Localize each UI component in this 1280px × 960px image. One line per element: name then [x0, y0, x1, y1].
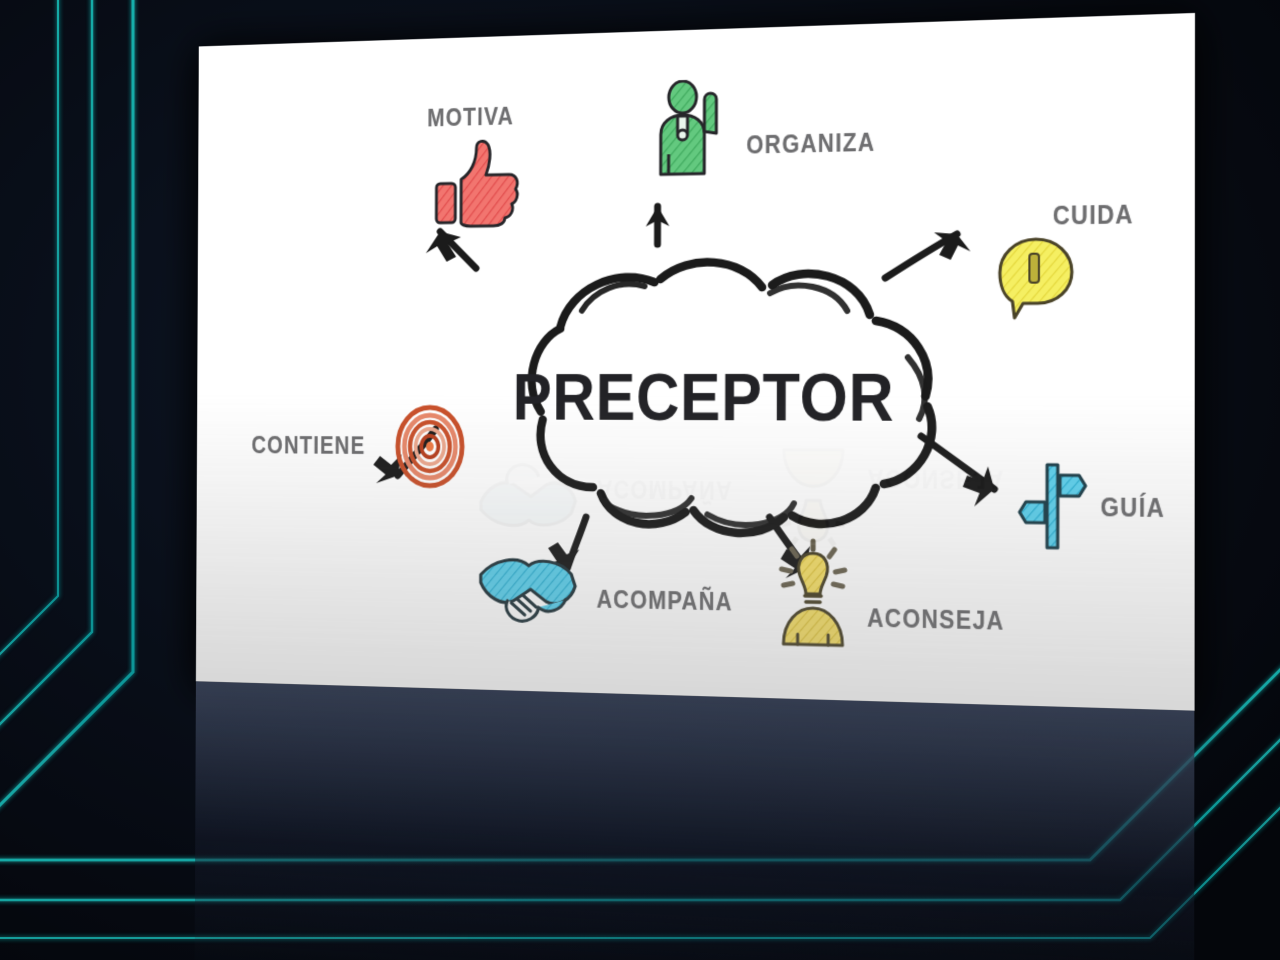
node-label-motiva: MOTIVA	[427, 103, 514, 134]
node-organiza[interactable]: ORGANIZA	[651, 74, 893, 177]
node-label-organiza: ORGANIZA	[746, 128, 875, 160]
node-label-contiene: CONTIENE	[251, 432, 365, 461]
slide-stage: PRECEPTOR MOTIVA	[0, 0, 1280, 960]
reflection-label-aconseja: ACONSEJA	[867, 462, 1004, 493]
target-rings-icon	[394, 404, 466, 488]
reflection-shade	[195, 681, 1195, 960]
presentation-slide[interactable]: PRECEPTOR MOTIVA	[196, 13, 1195, 711]
node-motiva[interactable]: MOTIVA	[427, 102, 526, 230]
speech-bubble-alert-icon	[991, 232, 1080, 322]
node-cuida[interactable]: CUIDA	[991, 200, 1145, 322]
handshake-icon	[475, 545, 583, 638]
person-idea-icon-reflection	[767, 446, 859, 559]
thumbs-up-icon	[429, 135, 525, 231]
node-label-cuida: CUIDA	[1053, 200, 1134, 231]
person-raising-hand-icon	[651, 79, 737, 177]
reflection-node-aconseja: ACONSEJA	[767, 446, 1023, 561]
node-contiene[interactable]: CONTIENE	[251, 404, 466, 489]
